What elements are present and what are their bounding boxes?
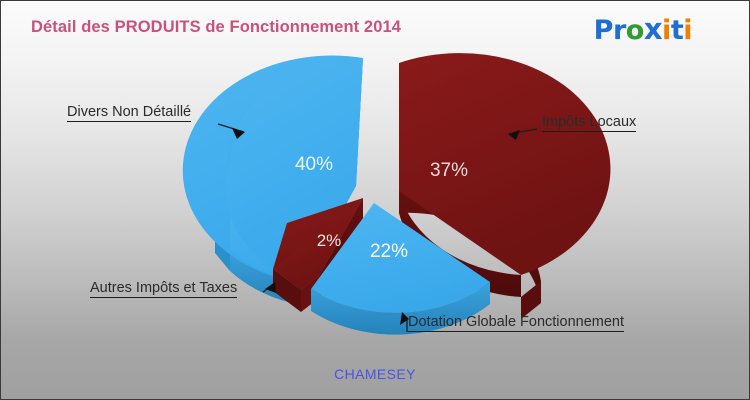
callout-label-autres[interactable]: Autres Impôts et Taxes	[90, 280, 237, 298]
callout-label-divers[interactable]: Divers Non Détaillé	[67, 104, 191, 122]
pie-chart: 40% 37% 22% 2%	[1, 1, 750, 400]
slice-value-divers: 40%	[295, 154, 333, 175]
slice-value-dotation: 22%	[370, 241, 408, 262]
commune-name: CHAMESEY	[1, 366, 749, 382]
slice-value-autres: 2%	[317, 231, 342, 250]
chart-canvas: Détail des PRODUITS de Fonctionnement 20…	[0, 0, 750, 400]
callout-label-impots[interactable]: Impôts Locaux	[542, 114, 636, 132]
callout-label-dotation[interactable]: Dotation Globale Fonctionnement	[408, 314, 624, 332]
slice-value-impots: 37%	[430, 160, 468, 181]
